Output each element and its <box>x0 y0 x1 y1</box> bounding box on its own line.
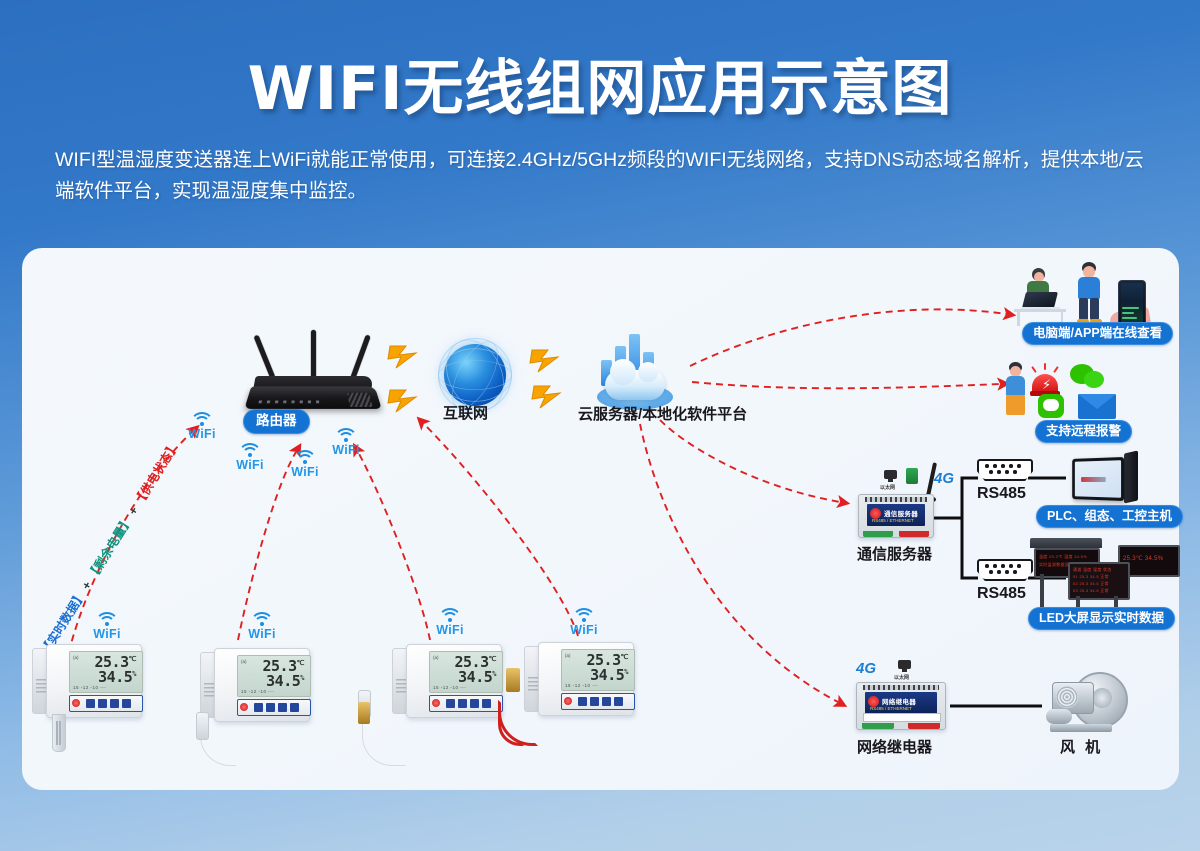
router-status-leds <box>258 401 322 404</box>
sensor-3-lcd-tag: (a) <box>433 655 439 660</box>
comm-server-screen-sub: RS485 / ETHERNET <box>872 518 914 523</box>
sensor-4-button-2[interactable] <box>590 697 599 706</box>
sensor-3-lcd-segments: 15 -12 -10 --- <box>433 685 466 690</box>
email-icon <box>1078 394 1116 419</box>
comm-server-screen-title: 通信服务器 <box>884 508 918 518</box>
person-alarm <box>1000 362 1030 418</box>
sensor-4-humidity: 34.5% <box>590 666 628 684</box>
wifi-icon-2: WiFi <box>228 443 272 472</box>
phone-person-leg-right <box>1090 298 1099 320</box>
sms-bubble <box>1043 399 1059 411</box>
sensor-3-case: (a) 25.3℃ 34.5% 15 -12 -10 --- <box>406 644 502 718</box>
wifi-arcs-4 <box>324 428 368 442</box>
wifi-icon-3: WiFi <box>283 450 327 479</box>
network-relay-device: 网络继电器 RS485 / ETHERNET <box>856 682 946 730</box>
comm-server-green-terminal <box>863 531 893 537</box>
sensor-3-buttons[interactable] <box>429 695 503 712</box>
router-antenna-right <box>350 335 370 380</box>
sensor-1-lcd-tag: (a) <box>73 655 79 660</box>
wifi-icon-1: WiFi <box>180 412 224 441</box>
sensor-4-case: (a) 25.3℃ 34.5% 15 -12 -10 --- <box>538 642 634 716</box>
wifi-icon-sensor-4: WiFi <box>562 608 606 637</box>
wifi-icon-4: WiFi <box>324 428 368 457</box>
internet-globe-icon <box>438 338 512 412</box>
sensor-4-lcd-segments: 15 -12 -10 --- <box>565 683 598 688</box>
sensor-2-lcd-segments: 15 -12 -10 --- <box>241 689 274 694</box>
page-title: WIFI无线组网应用示意图 <box>0 40 1200 127</box>
wifi-arcs-3 <box>283 450 327 464</box>
sensor-device-2: (a) 25.3℃ 34.5% 15 -12 -10 --- <box>200 648 308 726</box>
led-center-row-3: 02 25.3 34.5 正常 <box>1073 581 1109 587</box>
fan-foot <box>1050 724 1112 732</box>
network-relay-label: 网络继电器 <box>857 736 932 757</box>
pc-app-illustration <box>1010 262 1160 328</box>
sensor-3-brand-logo <box>432 699 440 707</box>
sensor-1-brand-logo <box>72 699 80 707</box>
ethernet-icon-relay <box>898 660 911 669</box>
router-label[interactable]: 路由器 <box>243 409 310 434</box>
internet-label: 互联网 <box>443 402 488 423</box>
sensor-3-button-1[interactable] <box>446 699 455 708</box>
relay-screen-sub: RS485 / ETHERNET <box>870 706 912 711</box>
laptop-screen <box>1022 292 1058 308</box>
desk <box>1014 309 1066 312</box>
alarm-siren-icon: ⚡ <box>1030 366 1060 396</box>
rs485-top-pins <box>985 464 1025 474</box>
led-canopy <box>1030 538 1102 548</box>
battery-icon-comm <box>906 468 918 484</box>
sensor-1-button-2[interactable] <box>98 699 107 708</box>
led-screen-label[interactable]: LED大屏显示实时数据 <box>1028 607 1175 630</box>
globe-mesh-5 <box>438 348 512 401</box>
4g-label-relay: 4G <box>856 660 876 677</box>
relay-screen-title: 网络继电器 <box>882 696 916 706</box>
wifi-arcs-8 <box>562 608 606 622</box>
sensor-3-button-3[interactable] <box>470 699 479 708</box>
wifi-arcs-6 <box>240 612 284 626</box>
comm-server-screen: 通信服务器 RS485 / ETHERNET <box>867 504 925 526</box>
led-screen-center: 通道 温度 湿度 状态 01 25.3 34.5 正常 02 25.3 34.5… <box>1068 562 1130 600</box>
wechat-icon <box>1070 364 1104 392</box>
ethernet-label-relay: 以太网 <box>894 674 909 681</box>
siren-bolt-glyph: ⚡ <box>1042 378 1051 391</box>
diagram-root: WIFI无线组网应用示意图 WIFI型温湿度变送器连上WiFi就能正常使用，可连… <box>0 0 1200 851</box>
sensor-3-lcd: (a) 25.3℃ 34.5% 15 -12 -10 --- <box>429 651 503 693</box>
sensor-2-button-2[interactable] <box>266 703 275 712</box>
sensor-2-lcd-tag: (a) <box>241 659 247 664</box>
data-flow-sep-1: + <box>79 579 95 592</box>
fan-hub <box>1092 688 1112 708</box>
sensor-4-lcd-tag: (a) <box>565 653 571 658</box>
phone-data-line-1 <box>1122 307 1139 309</box>
sensor-4-button-3[interactable] <box>602 697 611 706</box>
sensor-1-probe <box>52 714 66 752</box>
sensor-1-lcd-segments: 15 -12 -10 --- <box>73 685 106 690</box>
siren-ray-center <box>1044 363 1046 370</box>
sensor-device-3: (a) 25.3℃ 34.5% 15 -12 -10 --- <box>392 644 500 722</box>
relay-terminal-strip <box>863 685 939 690</box>
relay-screen: 网络继电器 RS485 / ETHERNET <box>865 692 937 714</box>
comm-server-label: 通信服务器 <box>857 543 932 564</box>
sensor-2-case: (a) 25.3℃ 34.5% 15 -12 -10 --- <box>214 648 310 722</box>
rs485-bottom-pins <box>985 564 1025 574</box>
led-left-pole <box>1040 574 1044 608</box>
relay-channel-row <box>863 713 941 722</box>
phone-data-line-3 <box>1122 317 1137 319</box>
cloud-shape <box>605 370 665 400</box>
wifi-icon-sensor-1: WiFi <box>85 612 129 641</box>
sensor-3-button-4[interactable] <box>482 699 491 708</box>
wifi-icon-sensor-2: WiFi <box>240 612 284 641</box>
sensor-2-brand-logo <box>240 703 248 711</box>
data-flow-sep-2: + <box>126 504 142 517</box>
relay-green-terminal <box>862 723 894 729</box>
sensor-1-buttons[interactable] <box>69 695 143 712</box>
router-vent <box>347 393 372 407</box>
sensor-4-button-1[interactable] <box>578 697 587 706</box>
plc-monitor-screen <box>1075 460 1121 498</box>
led-center-row-1: 通道 温度 湿度 状态 <box>1073 567 1112 573</box>
led-left-row-1: 温度 25.3℃ 湿度 34.5% <box>1039 554 1087 560</box>
wifi-arcs-2 <box>228 443 272 457</box>
fan-inlet <box>1046 709 1072 724</box>
wifi-icon-sensor-3: WiFi <box>428 608 472 637</box>
fan-grill <box>1056 686 1078 708</box>
phone-person-torso <box>1078 277 1100 299</box>
pc-app-label[interactable]: 电脑端/APP端在线查看 <box>1022 322 1173 345</box>
page-subtitle: WIFI型温湿度变送器连上WiFi就能正常使用，可连接2.4GHz/5GHz频段… <box>55 145 1160 207</box>
ethernet-icon-comm <box>884 470 897 479</box>
wifi-arcs-7 <box>428 608 472 622</box>
plc-host-label[interactable]: PLC、组态、工控主机 <box>1036 505 1183 528</box>
sms-icon <box>1038 394 1064 418</box>
sensor-2-lcd: (a) 25.3℃ 34.5% 15 -12 -10 --- <box>237 655 311 697</box>
sensor-1-button-1[interactable] <box>86 699 95 708</box>
sensor-2-probe-tip <box>196 712 209 740</box>
sensor-1-humidity: 34.5% <box>98 668 136 686</box>
sensor-4-buttons[interactable] <box>561 693 635 710</box>
email-flap <box>1078 394 1116 409</box>
wechat-bubble-2 <box>1084 371 1104 388</box>
sensor-3-humidity: 34.5% <box>458 668 496 686</box>
cloud-server-label: 云服务器/本地化软件平台 <box>578 403 747 424</box>
router-antenna-center <box>311 330 316 382</box>
monitor-side-panel <box>1124 451 1138 504</box>
rs485-connector-top <box>977 459 1033 481</box>
sensor-2-humidity: 34.5% <box>266 672 304 690</box>
sensor-device-1: (a) 25.3℃ 34.5% 15 -12 -10 --- <box>32 644 140 722</box>
sensor-1-button-3[interactable] <box>110 699 119 708</box>
sensor-1-button-4[interactable] <box>122 699 131 708</box>
router-body <box>244 386 381 409</box>
sensor-3-brass-tip <box>358 702 370 724</box>
sensor-4-lcd: (a) 25.3℃ 34.5% 15 -12 -10 --- <box>561 649 635 691</box>
plc-monitor-icon <box>1072 457 1124 501</box>
blower-fan-icon <box>1046 672 1128 732</box>
ethernet-label-comm: 以太网 <box>880 484 895 491</box>
rs485-bottom-label: RS485 <box>977 585 1026 603</box>
remote-alarm-label[interactable]: 支持远程报警 <box>1035 420 1132 443</box>
alarm-person-torso <box>1006 376 1025 396</box>
sensor-4-brand-logo <box>564 697 572 705</box>
siren-ray-left <box>1031 366 1037 373</box>
fan-label: 风 机 <box>1060 736 1103 757</box>
sensor-2-button-3[interactable] <box>278 703 287 712</box>
sensor-1-case: (a) 25.3℃ 34.5% 15 -12 -10 --- <box>46 644 142 718</box>
comm-server-terminal-strip <box>865 497 927 502</box>
sensor-2-button-4[interactable] <box>290 703 299 712</box>
relay-red-terminal <box>908 723 940 729</box>
led-right-row-1: 25.3℃ 34.5% <box>1123 555 1163 562</box>
router-antenna-left <box>254 335 276 380</box>
alarm-icons-group: ⚡ <box>1030 362 1160 420</box>
rs485-connector-bottom <box>977 559 1033 581</box>
siren-ray-right <box>1053 366 1059 373</box>
led-center-row-4: 03 25.3 34.5 正常 <box>1073 588 1109 594</box>
smartphone-icon <box>1118 280 1146 326</box>
sensor-device-4: (a) 25.3℃ 34.5% 15 -12 -10 --- <box>524 642 632 720</box>
comm-server-device: 通信服务器 RS485 / ETHERNET <box>858 494 934 538</box>
sensor-2-buttons[interactable] <box>237 699 311 716</box>
sensor-1-lcd: (a) 25.3℃ 34.5% 15 -12 -10 --- <box>69 651 143 693</box>
wifi-arcs-1 <box>180 412 224 426</box>
sensor-4-brass-tip <box>506 668 520 692</box>
wifi-arcs-5 <box>85 612 129 626</box>
rs485-top-label: RS485 <box>977 485 1026 503</box>
sensor-4-button-4[interactable] <box>614 697 623 706</box>
phone-person-leg-left <box>1079 298 1088 320</box>
led-center-row-2: 01 25.3 34.5 正常 <box>1073 574 1109 580</box>
alarm-person-legs <box>1006 395 1025 415</box>
sensor-2-button-1[interactable] <box>254 703 263 712</box>
sensor-3-button-2[interactable] <box>458 699 467 708</box>
router-device <box>248 330 378 410</box>
phone-data-line-2 <box>1122 312 1134 314</box>
comm-server-red-terminal <box>899 531 929 537</box>
4g-label-comm: 4G <box>934 470 954 487</box>
